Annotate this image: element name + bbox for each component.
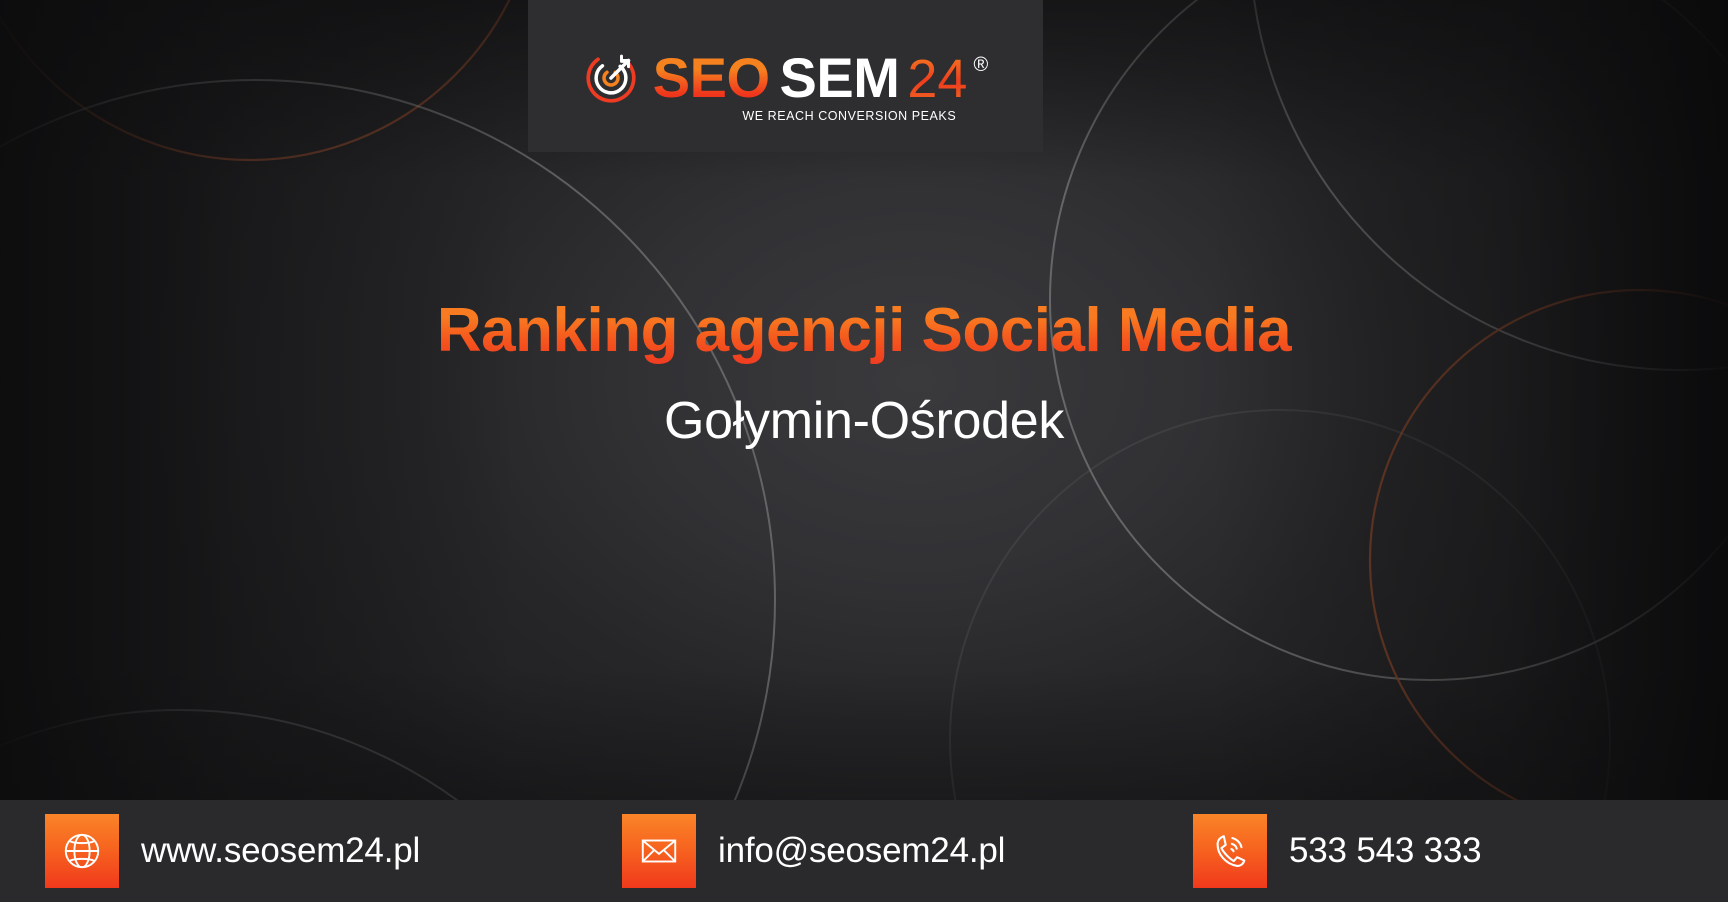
footer-contact-list: www.seosem24.pl info@seosem24.pl: [0, 800, 1728, 902]
footer-phone-label: 533 543 333: [1289, 831, 1481, 871]
logo-word-seo: SEO: [653, 50, 770, 106]
logo-word-sem: SEM: [780, 50, 900, 106]
footer-website-label: www.seosem24.pl: [141, 831, 420, 871]
page-title: Ranking agencji Social Media: [0, 296, 1728, 365]
headline-block: Ranking agencji Social Media Gołymin-Ośr…: [0, 296, 1728, 451]
brand-logo-panel: SEO SEM 24 ® WE REACH CONVERSION PEAKS: [528, 0, 1043, 152]
logo-row: SEO SEM 24 ® WE REACH CONVERSION PEAKS: [583, 50, 988, 106]
envelope-icon: [622, 814, 696, 888]
footer-email-label: info@seosem24.pl: [718, 831, 1005, 871]
registered-mark: ®: [973, 55, 988, 75]
target-dartboard-icon: [583, 50, 639, 106]
page-subtitle: Gołymin-Ośrodek: [0, 393, 1728, 450]
logo-word-24: 24: [907, 52, 967, 106]
globe-icon: [45, 814, 119, 888]
phone-icon: [1193, 814, 1267, 888]
presentation-slide: SEO SEM 24 ® WE REACH CONVERSION PEAKS R…: [0, 0, 1728, 902]
logo-tagline: WE REACH CONVERSION PEAKS: [742, 109, 956, 123]
footer-item-phone[interactable]: 533 543 333: [1193, 814, 1481, 888]
logo-wordmark: SEO SEM 24 ® WE REACH CONVERSION PEAKS: [653, 50, 988, 106]
footer-item-website[interactable]: www.seosem24.pl: [45, 814, 420, 888]
footer-item-email[interactable]: info@seosem24.pl: [622, 814, 1005, 888]
